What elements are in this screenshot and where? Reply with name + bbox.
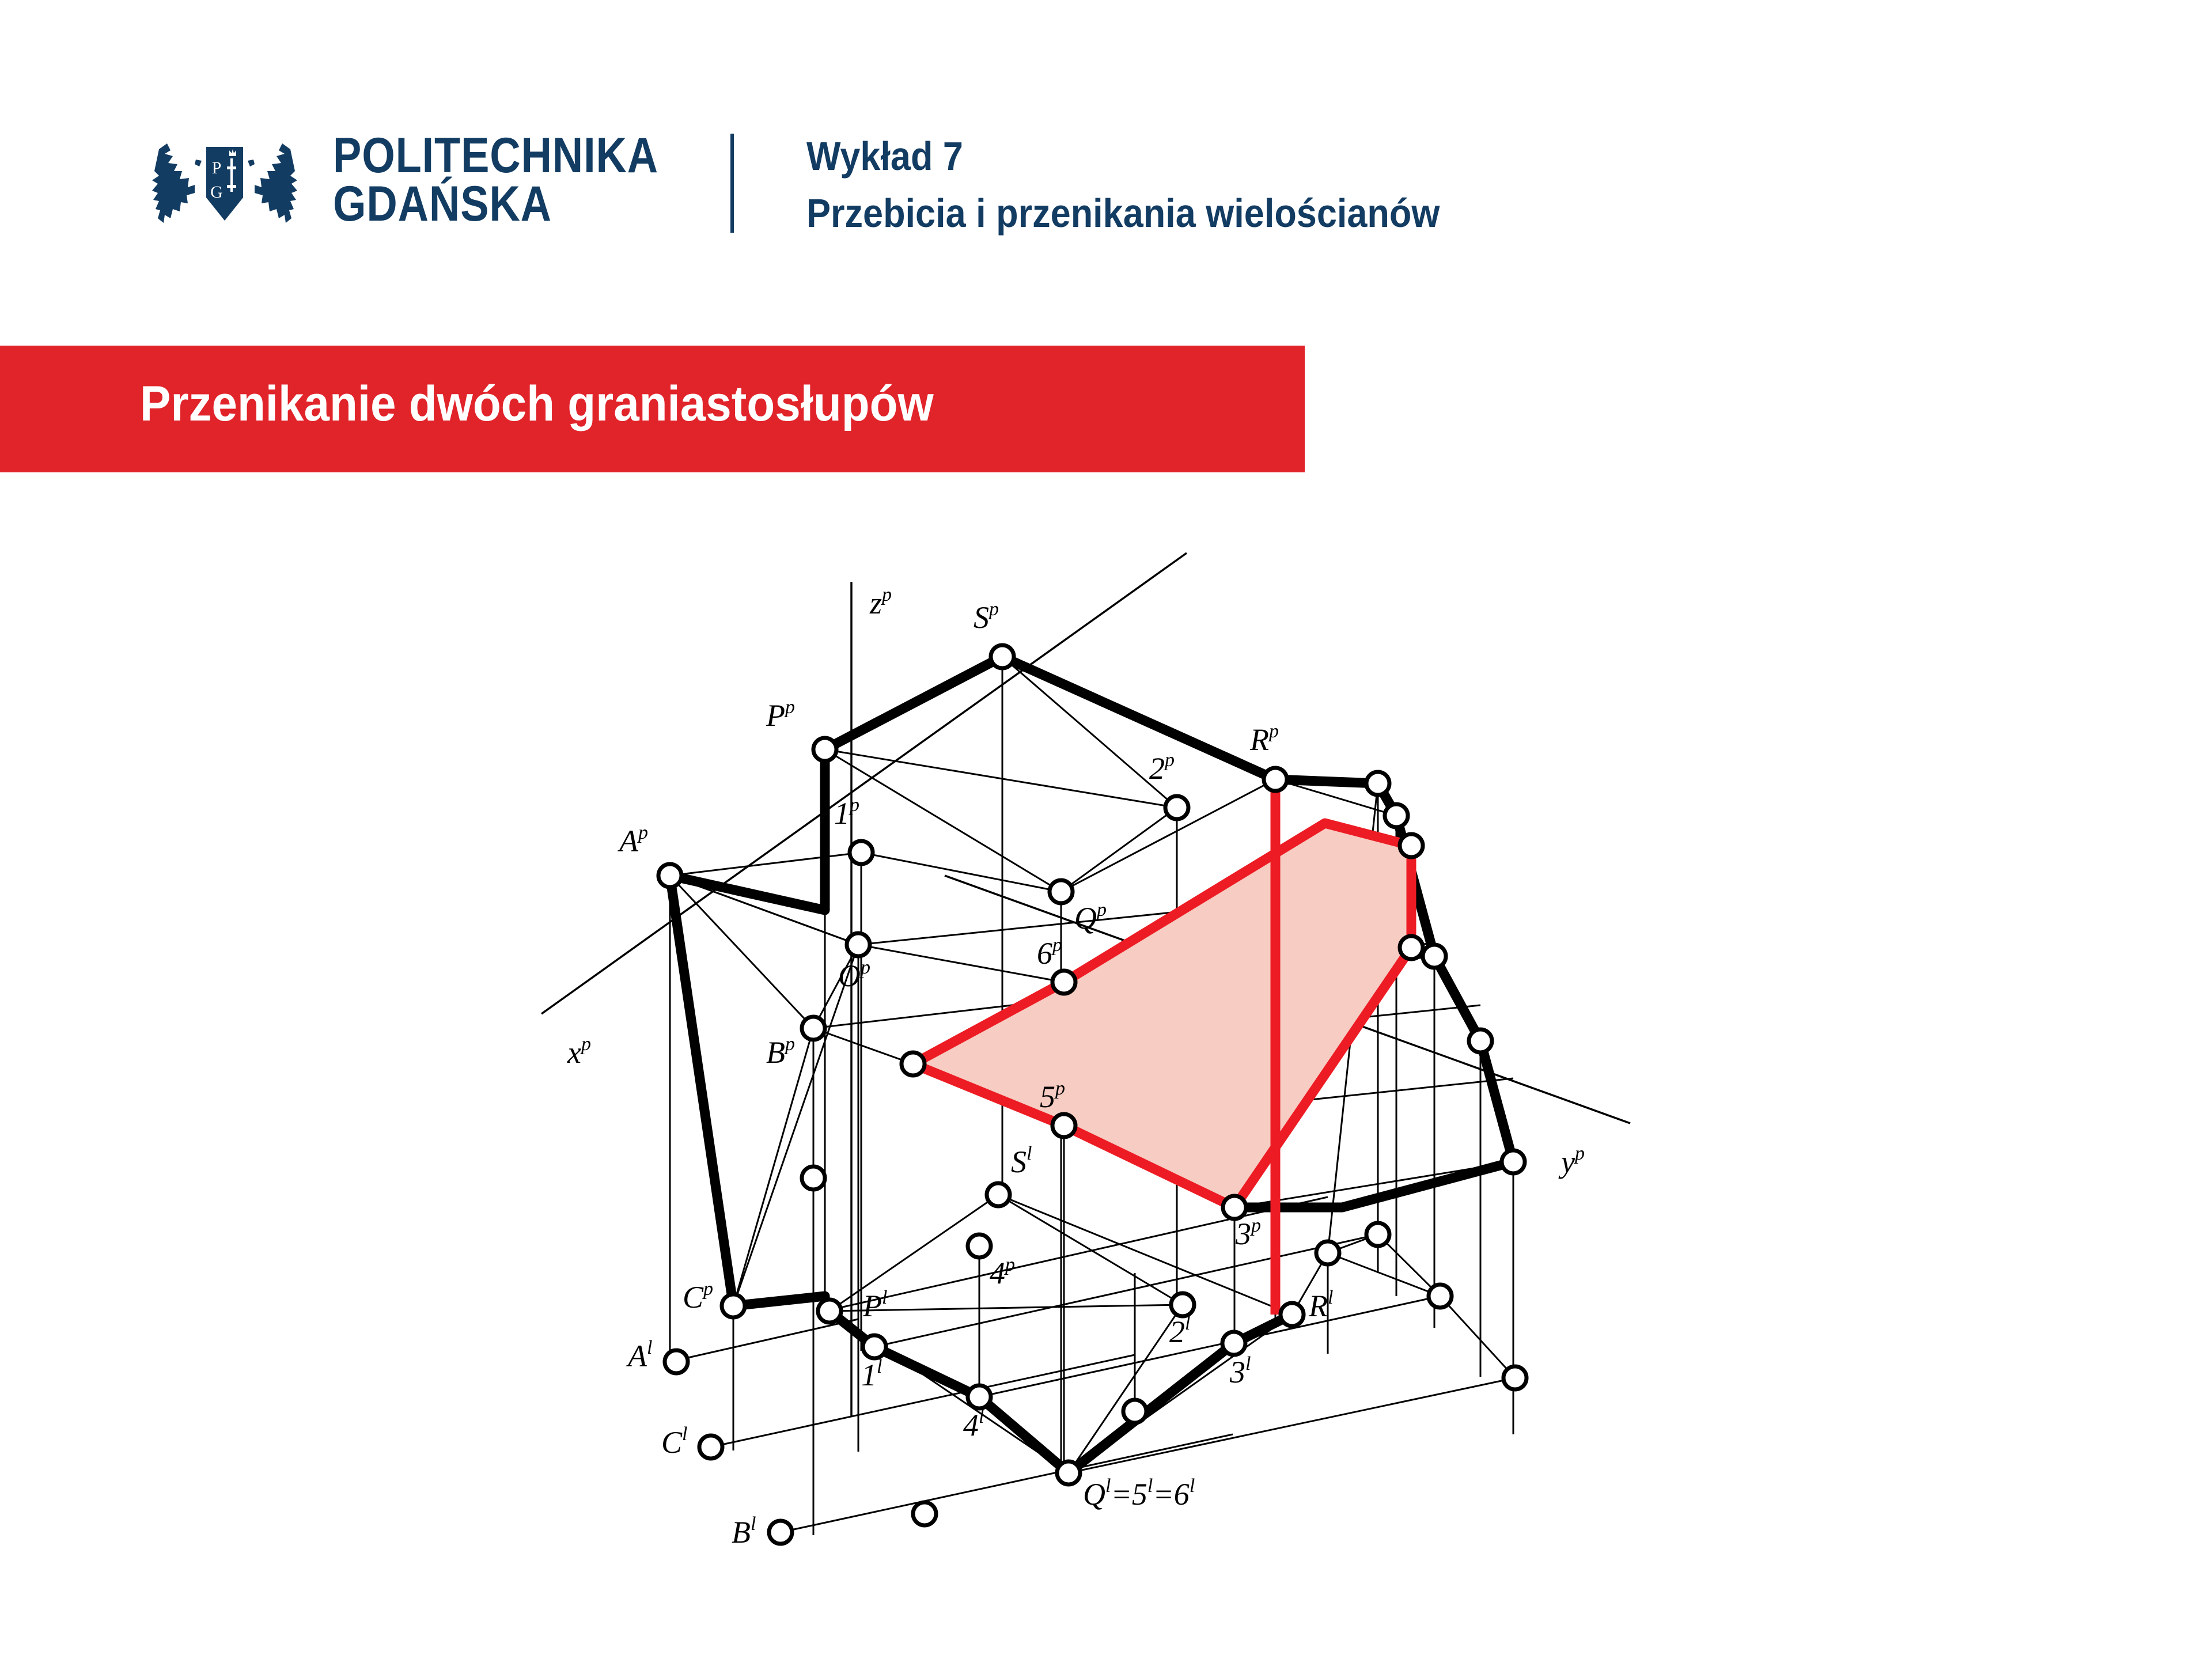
university-name-line1: POLITECHNIKA <box>333 132 658 180</box>
label-Ql-5l-6l: Ql=5l=6l <box>1083 1475 1195 1512</box>
label-Cl: Cl <box>661 1423 687 1460</box>
university-name-line2: GDAŃSKA <box>333 180 658 228</box>
technical-drawing: xp zp yp Sp Pp Rp 2p 1p Ap Qp 6p Op Bp 5… <box>0 495 2212 1659</box>
pg-crest-icon: P G <box>138 130 311 230</box>
axis-label-z: zp <box>869 584 892 620</box>
label-2l: 2l <box>1169 1313 1190 1349</box>
section-banner: Przenikanie dwóch graniastosłupów <box>0 346 1305 472</box>
projection-diagram: xp zp yp Sp Pp Rp 2p 1p Ap Qp 6p Op Bp 5… <box>0 495 2212 1659</box>
intersection-polygon <box>913 823 1411 1207</box>
label-Qp: Qp <box>1074 899 1107 935</box>
label-Rl: Rl <box>1308 1287 1333 1323</box>
label-4l: 4l <box>963 1406 984 1442</box>
label-Sp: Sp <box>974 599 999 635</box>
slide-header: P G POLITECHNIKA GDAŃSKA Wykład 7 Przebi… <box>0 0 2212 311</box>
axis-label-x: xp <box>567 1033 591 1070</box>
lecture-number: Wykład 7 <box>806 128 1440 185</box>
label-6p: 6p <box>1037 934 1062 971</box>
section-title: Przenikanie dwóch graniastosłupów <box>140 376 934 433</box>
crest-letter-g: G <box>210 183 223 202</box>
label-3p: 3p <box>1235 1215 1261 1251</box>
label-Sl: Sl <box>1011 1143 1032 1179</box>
university-logo: P G POLITECHNIKA GDAŃSKA <box>138 130 711 230</box>
label-Pp: Pp <box>766 696 795 733</box>
label-Rp: Rp <box>1249 721 1279 757</box>
label-Bp: Bp <box>766 1033 795 1070</box>
label-Cp: Cp <box>683 1278 713 1315</box>
university-wordmark: POLITECHNIKA GDAŃSKA <box>333 132 711 228</box>
label-Al: Al <box>626 1337 652 1373</box>
label-3l: 3l <box>1229 1353 1251 1389</box>
axis-label-y: yp <box>1558 1143 1585 1179</box>
label-2p: 2p <box>1149 749 1175 786</box>
label-4p: 4p <box>990 1254 1015 1290</box>
crest-letter-p: P <box>212 158 222 177</box>
header-divider <box>730 134 734 233</box>
label-Ap: Ap <box>618 822 648 858</box>
label-Bl: Bl <box>732 1513 756 1550</box>
label-1p: 1p <box>834 794 859 831</box>
label-1l: 1l <box>861 1356 882 1392</box>
label-Op: Op <box>838 957 870 993</box>
lecture-heading: Wykład 7 Przebicia i przenikania wielośc… <box>806 128 1510 243</box>
label-Pl: Pl <box>862 1287 887 1323</box>
lecture-title: Przebicia i przenikania wielościanów <box>806 185 1440 242</box>
